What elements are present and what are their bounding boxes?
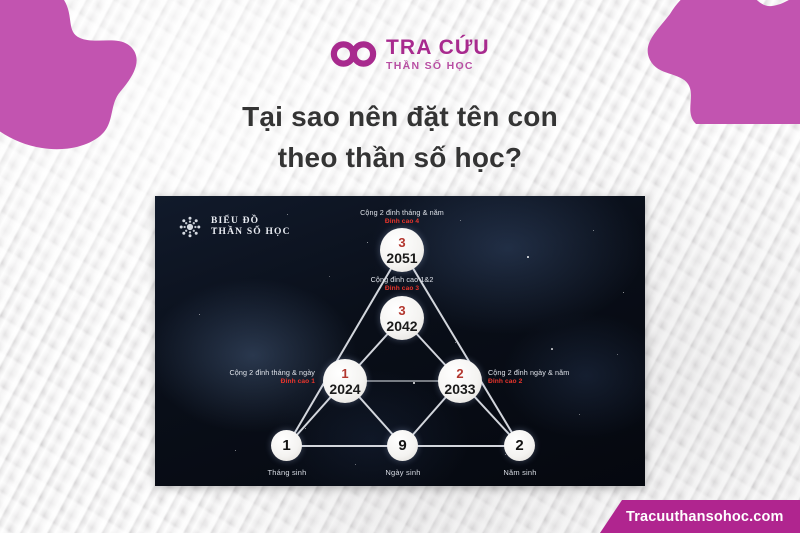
page-title: Tại sao nên đặt tên con theo thần số học… (0, 96, 800, 179)
node-peak3-year: 2042 (386, 319, 417, 333)
node-birth-year-number: 2 (515, 438, 523, 453)
caption-birth-year: Năm sinh (480, 468, 560, 477)
annotation-peak1-label: Đỉnh cao 1 (173, 378, 315, 387)
brand-tagline: THẦN SỐ HỌC (386, 61, 490, 72)
website-ribbon[interactable]: Tracuuthansohoc.com (600, 500, 800, 533)
caption-birth-day: Ngày sinh (363, 468, 443, 477)
node-birth-month[interactable]: 1 (271, 430, 302, 461)
brand-name: TRA CỨU (386, 37, 490, 58)
poster-canvas: TRA CỨU THẦN SỐ HỌC Tại sao nên đặt tên … (0, 0, 800, 533)
numerology-chart-panel: BIỂU ĐỒ THẦN SỐ HỌC (155, 196, 645, 486)
headline-line-2: theo thần số học? (0, 137, 800, 178)
annotation-peak4: Cộng 2 đỉnh tháng & năm Đỉnh cao 4 (327, 208, 477, 227)
node-peak1-year: 2024 (329, 382, 360, 396)
annotation-peak2-label: Đỉnh cao 2 (488, 378, 630, 387)
node-peak1-number: 1 (341, 367, 348, 380)
website-url: Tracuuthansohoc.com (626, 509, 784, 525)
node-peak2-number: 2 (456, 367, 463, 380)
annotation-peak3-label: Đỉnh cao 3 (337, 285, 467, 294)
caption-birth-month: Tháng sinh (247, 468, 327, 477)
brand-logo: TRA CỨU THẦN SỐ HỌC (330, 28, 490, 80)
annotation-peak4-label: Đỉnh cao 4 (327, 218, 477, 227)
node-birth-year[interactable]: 2 (504, 430, 535, 461)
node-peak1[interactable]: 1 2024 (323, 359, 367, 403)
brand-wordmark: TRA CỨU THẦN SỐ HỌC (386, 37, 490, 72)
node-peak3-number: 3 (398, 304, 405, 317)
node-peak4-year: 2051 (386, 251, 417, 265)
node-birth-day-number: 9 (398, 438, 406, 453)
annotation-peak1: Cộng 2 đỉnh tháng & ngày Đỉnh cao 1 (173, 368, 315, 387)
annotation-peak3-text: Cộng đỉnh cao 1&2 (337, 275, 467, 285)
node-birth-month-number: 1 (282, 438, 290, 453)
node-peak2-year: 2033 (444, 382, 475, 396)
annotation-peak2: Cộng 2 đỉnh ngày & năm Đỉnh cao 2 (488, 368, 630, 387)
annotation-peak3: Cộng đỉnh cao 1&2 Đỉnh cao 3 (337, 275, 467, 294)
infinity-icon (330, 39, 377, 69)
annotation-peak1-text: Cộng 2 đỉnh tháng & ngày (173, 368, 315, 378)
annotation-peak4-text: Cộng 2 đỉnh tháng & năm (327, 208, 477, 218)
node-peak3[interactable]: 3 2042 (380, 296, 424, 340)
node-peak4-number: 3 (398, 236, 405, 249)
node-peak4[interactable]: 3 2051 (380, 228, 424, 272)
node-peak2[interactable]: 2 2033 (438, 359, 482, 403)
annotation-peak2-text: Cộng 2 đỉnh ngày & năm (488, 368, 630, 378)
headline-line-1: Tại sao nên đặt tên con (242, 101, 558, 132)
node-birth-day[interactable]: 9 (387, 430, 418, 461)
